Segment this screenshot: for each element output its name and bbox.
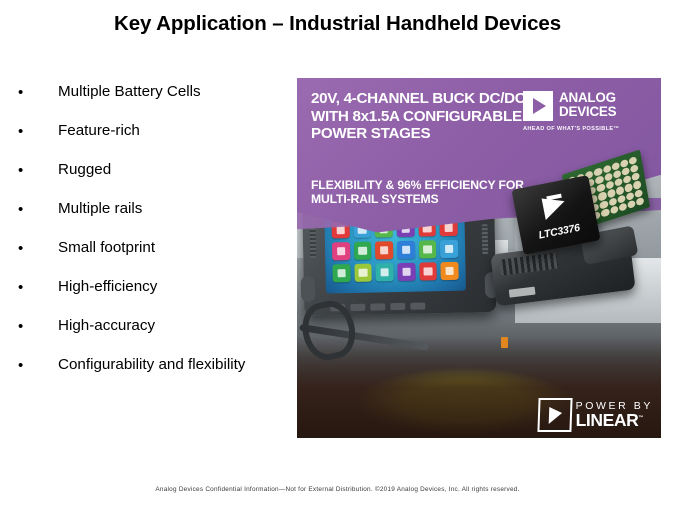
bullet-marker-icon: • (18, 122, 28, 141)
app-icon (440, 240, 458, 258)
list-item-label: High-efficiency (58, 277, 157, 296)
analog-devices-triangle-icon (523, 91, 553, 121)
list-item-label: Configurability and flexibility (58, 355, 245, 374)
bullet-marker-icon: • (18, 239, 28, 258)
tablet-speaker-grille (310, 228, 317, 258)
app-icon (375, 241, 393, 259)
ad-headline: 20V, 4-CHANNEL BUCK DC/DC WITH 8x1.5A CO… (311, 90, 549, 143)
bullet-marker-icon: • (18, 278, 28, 297)
app-icon (332, 242, 350, 260)
list-item-label: Feature-rich (58, 121, 140, 140)
list-item: • High-efficiency (14, 277, 294, 316)
solder-ball (627, 199, 636, 209)
solder-ball (635, 197, 644, 207)
list-item: • Rugged (14, 160, 294, 199)
app-icon (419, 241, 437, 259)
list-item-label: Multiple rails (58, 199, 142, 218)
confidentiality-footer: Analog Devices Confidential Information—… (0, 486, 675, 493)
list-item: • Multiple rails (14, 199, 294, 238)
tablet-button (350, 304, 365, 311)
app-icon (376, 263, 394, 281)
app-icon (397, 241, 415, 259)
solder-ball (624, 183, 633, 193)
list-item-label: Small footprint (58, 238, 155, 257)
brand-name-line1: ANALOG (559, 91, 616, 105)
list-item: • Configurability and flexibility (14, 355, 294, 394)
list-item: • Small footprint (14, 238, 294, 277)
app-icon (419, 262, 437, 280)
list-item: • Multiple Battery Cells (14, 82, 294, 121)
app-icon (354, 264, 372, 282)
bullet-marker-icon: • (18, 161, 28, 180)
tablet-bumper (301, 276, 316, 302)
scanner-label (509, 287, 536, 298)
page-title: Key Application – Industrial Handheld De… (0, 12, 675, 36)
list-item-label: Rugged (58, 160, 111, 179)
machinery-shape (501, 337, 508, 348)
tablet-button (410, 302, 425, 309)
product-advertisement-image: • • • • • 20V, 4-CHANNEL BUCK DC/DC WIT (297, 78, 661, 438)
power-by-linear-line2: LINEAR™ (576, 412, 653, 430)
linear-triangle-icon (537, 398, 572, 432)
tablet-button (370, 303, 385, 310)
scanner-grip (499, 253, 559, 276)
bullet-marker-icon: • (18, 200, 28, 219)
list-item: • Feature-rich (14, 121, 294, 160)
app-icon (354, 242, 372, 260)
list-item: • High-accuracy (14, 316, 294, 355)
brand-tagline: AHEAD OF WHAT'S POSSIBLE™ (523, 126, 649, 132)
bullet-marker-icon: • (18, 83, 28, 102)
solder-ball (601, 208, 610, 218)
list-item-label: High-accuracy (58, 316, 155, 335)
bullet-marker-icon: • (18, 317, 28, 336)
brand-name-line2: DEVICES (559, 105, 616, 119)
chip-part-number: LTC3376 (520, 218, 599, 245)
tablet-button (390, 303, 405, 310)
solder-ball (618, 202, 627, 212)
analog-devices-logo: ANALOG DEVICES AHEAD OF WHAT'S POSSIBLE™ (523, 91, 649, 132)
app-icon (397, 263, 415, 281)
power-by-linear-logo: POWER BY LINEAR™ (538, 398, 653, 432)
slide: Key Application – Industrial Handheld De… (0, 0, 675, 506)
app-icon (332, 264, 350, 282)
bullet-marker-icon: • (18, 356, 28, 375)
list-item-label: Multiple Battery Cells (58, 82, 201, 101)
solder-ball (633, 180, 642, 190)
tablet-speaker-grille (482, 224, 489, 254)
app-icon (441, 262, 459, 280)
solder-ball (609, 205, 618, 215)
bullet-list: • Multiple Battery Cells • Feature-rich … (14, 82, 294, 394)
